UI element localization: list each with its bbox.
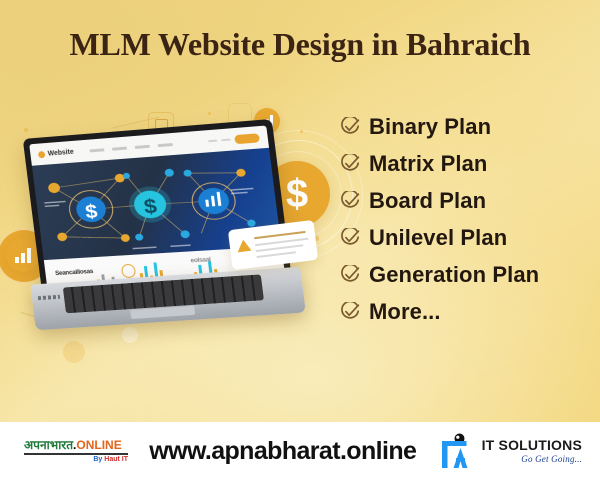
brand-logo-rule [24, 453, 128, 455]
decor-dot [300, 130, 303, 133]
list-item: Generation Plan [340, 256, 539, 293]
partner-logo-mark [438, 432, 476, 470]
by-brand: Haut IT [104, 456, 128, 463]
card-line [256, 251, 296, 258]
card-line [255, 244, 303, 252]
nav-item[interactable] [112, 146, 127, 150]
website-logo-text: Website [47, 148, 74, 157]
decor-dot [24, 128, 28, 132]
nav-item[interactable] [89, 148, 104, 152]
brand-logo-hindi: अपनाभारत [24, 438, 73, 452]
footer-bar: अपनाभारत.ONLINE By Haut IT www.apnabhara… [0, 422, 600, 480]
header-link[interactable] [221, 138, 231, 141]
by-prefix: By [93, 456, 104, 463]
partner-tagline: Go Get Going... [482, 454, 582, 464]
circle-check-icon [340, 154, 360, 174]
donut-chart-icon [121, 264, 137, 279]
stats-label: Seancalilosas [55, 268, 94, 277]
header-link[interactable] [208, 139, 217, 142]
list-item: Board Plan [340, 182, 539, 219]
list-item: More... [340, 293, 539, 330]
list-item: Unilevel Plan [340, 219, 539, 256]
list-item-label: Board Plan [369, 190, 486, 212]
website-logo-mark [38, 151, 46, 158]
brand-logo-top: अपनाभारत.ONLINE [24, 439, 128, 452]
page-title: MLM Website Design in Bahraich [0, 26, 600, 63]
list-item-label: Generation Plan [369, 264, 539, 286]
brand-logo[interactable]: अपनाभारत.ONLINE By Haut IT [24, 439, 128, 463]
website-nav [89, 143, 173, 152]
list-item-label: Matrix Plan [369, 153, 487, 175]
circle-check-icon [340, 302, 360, 322]
circle-check-icon [340, 117, 360, 137]
list-item-label: Unilevel Plan [369, 227, 507, 249]
website-url[interactable]: www.apnabharat.online [128, 437, 438, 466]
decor-dot [208, 112, 211, 115]
website-header-actions [208, 133, 260, 146]
website-cta-button[interactable] [234, 133, 260, 144]
list-item: Binary Plan [340, 108, 539, 145]
list-item-label: Binary Plan [369, 116, 491, 138]
warning-icon [236, 239, 251, 253]
poster: $ Website [0, 0, 600, 480]
website-logo: Website [38, 148, 74, 158]
partner-logo-text: IT SOLUTIONS Go Get Going... [482, 438, 582, 464]
circle-check-icon [340, 191, 360, 211]
circle-check-icon [340, 265, 360, 285]
nav-item[interactable] [134, 144, 149, 148]
partner-name: IT SOLUTIONS [482, 438, 582, 452]
circle-check-icon [340, 228, 360, 248]
list-item: Matrix Plan [340, 145, 539, 182]
brand-logo-online: ONLINE [76, 438, 121, 452]
laptop-ports [38, 295, 60, 300]
nav-item[interactable] [157, 143, 172, 147]
h-a-monogram-icon [438, 432, 476, 470]
brand-logo-by: By Haut IT [24, 456, 128, 463]
feature-list: Binary Plan Matrix Plan Board Plan Unile… [340, 108, 539, 330]
partner-logo[interactable]: IT SOLUTIONS Go Get Going... [438, 432, 582, 470]
list-item-label: More... [369, 301, 441, 323]
